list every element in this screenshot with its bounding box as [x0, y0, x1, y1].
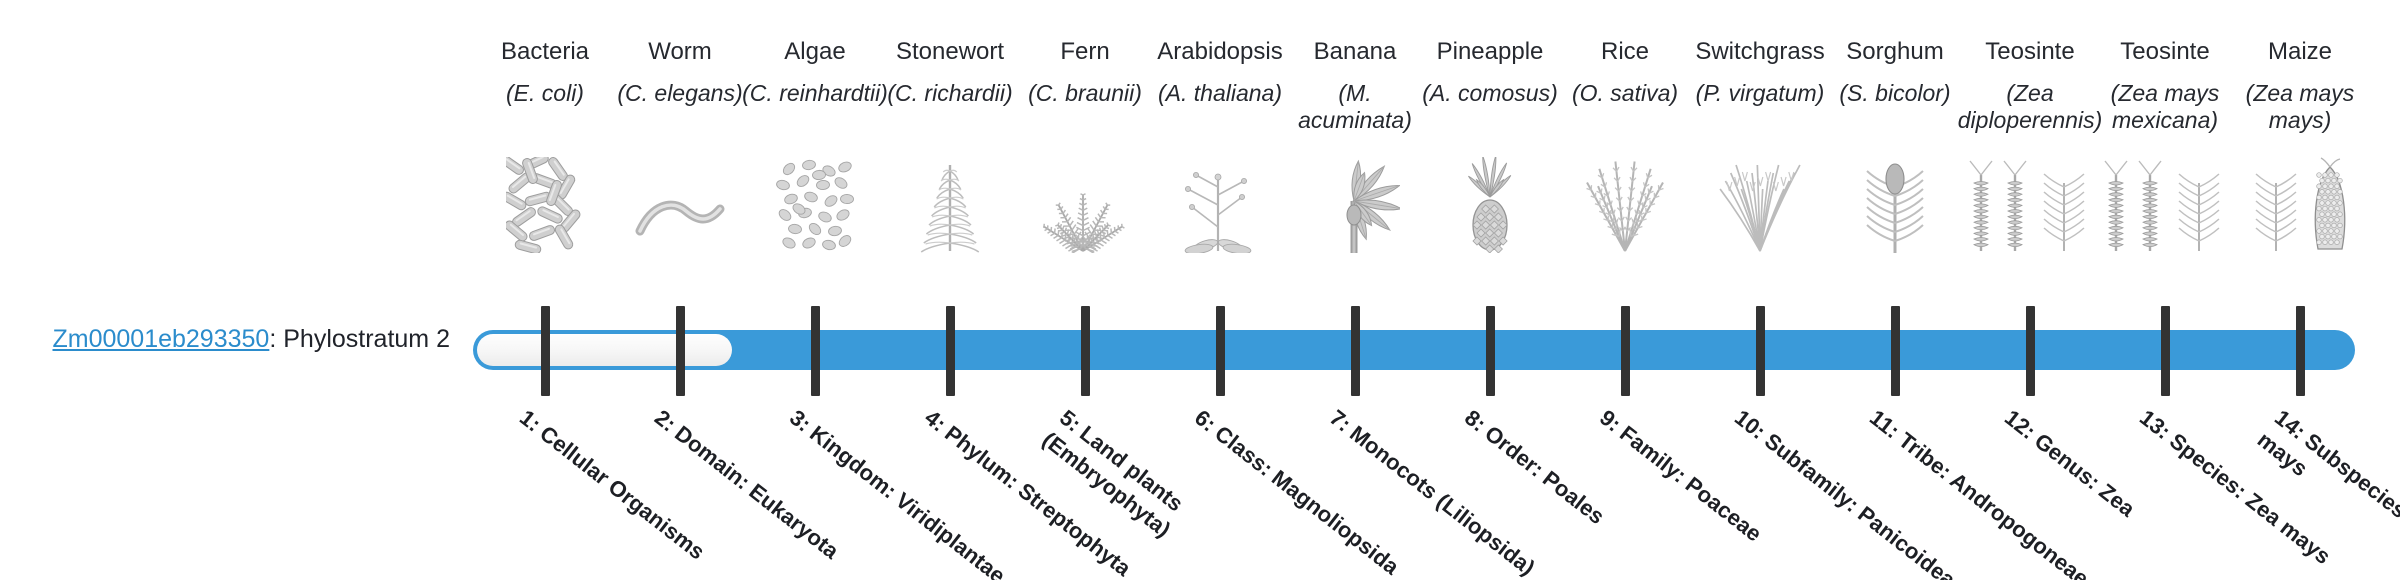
species-header-sorghum-11: Sorghum(S. bicolor)	[1820, 38, 1970, 107]
species-scientific-name: (C. elegans)	[605, 80, 755, 107]
phylostratum-tick-7	[1351, 306, 1360, 396]
species-common-name: Arabidopsis	[1145, 38, 1295, 66]
banana-icon	[1280, 168, 1430, 253]
bacteria-icon	[470, 168, 620, 253]
species-header-rice-9: Rice(O. sativa)	[1550, 38, 1700, 107]
species-scientific-name: (Zea diploperennis)	[1955, 80, 2105, 134]
stratum-label-5: 5: Land plants (Embryophyta)	[1036, 404, 1307, 580]
species-common-name: Banana	[1280, 38, 1430, 66]
species-scientific-name: (S. bicolor)	[1820, 80, 1970, 107]
species-scientific-name: (C. richardii)	[875, 80, 1025, 107]
phylostratum-tick-14	[2296, 306, 2305, 396]
species-common-name: Worm	[605, 38, 755, 66]
phylostratum-tick-3	[811, 306, 820, 396]
phylostratum-tick-12	[2026, 306, 2035, 396]
species-header-stonewort-4: Stonewort(C. richardii)	[875, 38, 1025, 107]
phylostratum-tick-4	[946, 306, 955, 396]
species-common-name: Maize	[2225, 38, 2375, 66]
switchgrass-icon	[1685, 168, 1835, 253]
species-common-name: Teosinte	[1955, 38, 2105, 66]
species-common-name: Algae	[740, 38, 890, 66]
gene-phylostratum-label: Zm00001eb293350: Phylostratum 2	[0, 325, 450, 354]
phylostratum-tick-9	[1621, 306, 1630, 396]
teosinte-ears-icon	[1955, 168, 2105, 253]
species-common-name: Teosinte	[2090, 38, 2240, 66]
species-common-name: Stonewort	[875, 38, 1025, 66]
species-header-algae-3: Algae(C. reinhardtii)	[740, 38, 890, 107]
phylostratum-figure: Zm00001eb293350: Phylostratum 2 Bacteria…	[0, 0, 2400, 580]
species-header-teosinte-12: Teosinte(Zea diploperennis)	[1955, 38, 2105, 134]
species-common-name: Bacteria	[470, 38, 620, 66]
species-scientific-name: (C. braunii)	[1010, 80, 1160, 107]
species-header-banana-7: Banana(M. acuminata)	[1280, 38, 1430, 134]
gene-label-separator: :	[269, 325, 283, 353]
species-scientific-name: (A. thaliana)	[1145, 80, 1295, 107]
phylostratum-tick-11	[1891, 306, 1900, 396]
species-header-worm-2: Worm(C. elegans)	[605, 38, 755, 107]
pineapple-icon	[1415, 168, 1565, 253]
species-header-fern-5: Fern(C. braunii)	[1010, 38, 1160, 107]
species-common-name: Sorghum	[1820, 38, 1970, 66]
phylostratum-tick-10	[1756, 306, 1765, 396]
maize-ear-icon	[2225, 168, 2375, 253]
species-scientific-name: (E. coli)	[470, 80, 620, 107]
stratum-label-1: 1: Cellular Organisms	[514, 404, 768, 580]
species-header-bacteria-1: Bacteria(E. coli)	[470, 38, 620, 107]
phylostratum-tick-6	[1216, 306, 1225, 396]
species-header-arabidopsis-6: Arabidopsis(A. thaliana)	[1145, 38, 1295, 107]
phylostratum-tick-13	[2161, 306, 2170, 396]
phylostratum-tick-1	[541, 306, 550, 396]
species-common-name: Fern	[1010, 38, 1160, 66]
species-scientific-name: (Zea mays mexicana)	[2090, 80, 2240, 134]
fern-icon	[1010, 168, 1160, 253]
species-scientific-name: (C. reinhardtii)	[740, 80, 890, 107]
stonewort-icon	[875, 168, 1025, 253]
species-common-name: Switchgrass	[1685, 38, 1835, 66]
species-scientific-name: (O. sativa)	[1550, 80, 1700, 107]
species-header-maize-14: Maize(Zea mays mays)	[2225, 38, 2375, 134]
worm-icon	[605, 168, 755, 253]
species-scientific-name: (P. virgatum)	[1685, 80, 1835, 107]
phylostratum-tick-2	[676, 306, 685, 396]
sorghum-icon	[1820, 168, 1970, 253]
phylostratum-tick-8	[1486, 306, 1495, 396]
teosinte-ears-icon	[2090, 168, 2240, 253]
species-header-teosinte-13: Teosinte(Zea mays mexicana)	[2090, 38, 2240, 134]
species-scientific-name: (Zea mays mays)	[2225, 80, 2375, 134]
phylostratum-value-text: Phylostratum 2	[283, 325, 450, 353]
phylostratum-bar-unfilled-segment	[477, 334, 732, 366]
species-header-switchgrass-10: Switchgrass(P. virgatum)	[1685, 38, 1835, 107]
species-scientific-name: (A. comosus)	[1415, 80, 1565, 107]
species-common-name: Pineapple	[1415, 38, 1565, 66]
phylostratum-bar-track[interactable]	[473, 330, 2355, 370]
gene-id-link[interactable]: Zm00001eb293350	[52, 325, 269, 353]
species-scientific-name: (M. acuminata)	[1280, 80, 1430, 134]
rice-icon	[1550, 168, 1700, 253]
species-header-pineapple-8: Pineapple(A. comosus)	[1415, 38, 1565, 107]
phylostratum-tick-5	[1081, 306, 1090, 396]
arabidopsis-icon	[1145, 168, 1295, 253]
species-common-name: Rice	[1550, 38, 1700, 66]
algae-icon	[740, 168, 890, 253]
